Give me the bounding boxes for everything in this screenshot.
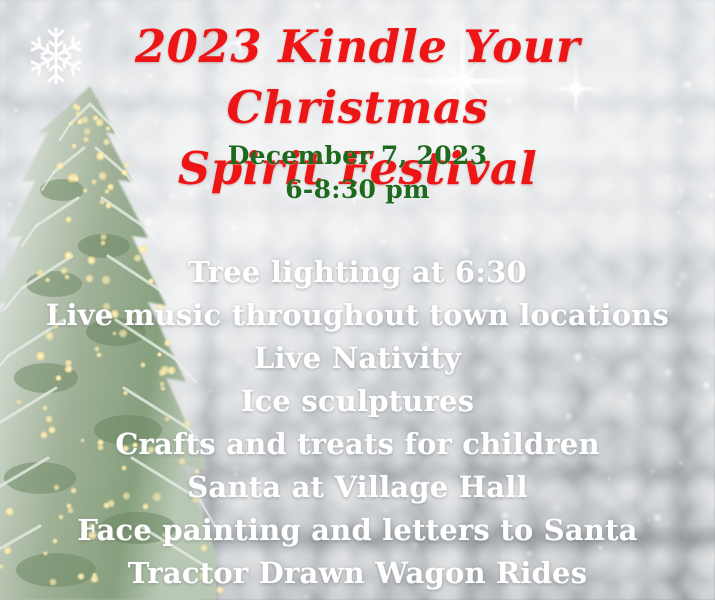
- event-item: Live Nativity: [0, 337, 715, 380]
- poster-text-content: 2023 Kindle Your Christmas Spirit Festiv…: [0, 0, 715, 600]
- event-item: Ice sculptures: [0, 380, 715, 423]
- event-time: 6-8:30 pm: [0, 173, 715, 207]
- event-item: Live music throughout town locations: [0, 294, 715, 337]
- event-item: Santa at Village Hall: [0, 466, 715, 509]
- event-item: Tree lighting at 6:30: [0, 251, 715, 294]
- title-line-1: 2023 Kindle Your Christmas: [0, 16, 715, 138]
- event-date: December 7, 2023: [0, 139, 715, 173]
- christmas-festival-poster: 2023 Kindle Your Christmas Spirit Festiv…: [0, 0, 715, 600]
- event-item: Crafts and treats for children: [0, 423, 715, 466]
- event-item: Face painting and letters to Santa: [0, 509, 715, 552]
- event-date-time: December 7, 2023 6-8:30 pm: [0, 139, 715, 207]
- event-item: Tractor Drawn Wagon Rides: [0, 552, 715, 595]
- event-list: Tree lighting at 6:30Live music througho…: [0, 251, 715, 595]
